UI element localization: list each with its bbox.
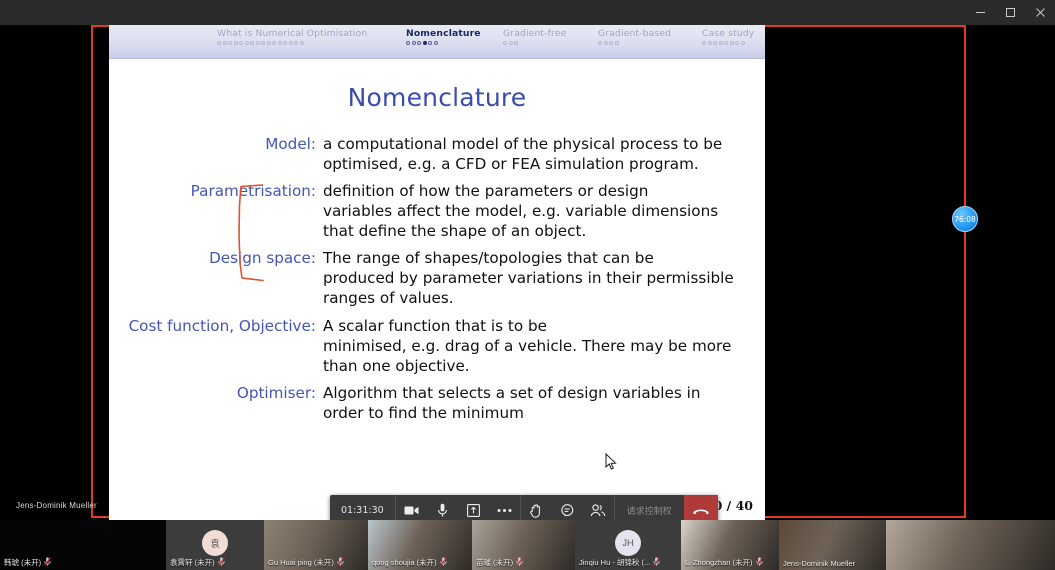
participant-tile[interactable]: Jens-Dominik Mueller — [779, 520, 886, 570]
definition-entry: Cost function, Objective:A scalar functi… — [123, 316, 745, 376]
minimize-button[interactable] — [965, 0, 995, 25]
presenter-name-label: Jens-Dominik Mueller — [16, 501, 97, 510]
nav-section-dots — [217, 41, 367, 45]
nav-dot[interactable] — [294, 41, 298, 45]
nav-dot[interactable] — [713, 41, 717, 45]
definition-text: A scalar function that is to beminimised… — [323, 316, 745, 376]
definition-text: a computational model of the physical pr… — [323, 134, 745, 174]
nav-dot[interactable] — [223, 41, 227, 45]
definition-line: A scalar function that is to be — [323, 316, 745, 336]
presentation-slide: What is Numerical OptimisationNomenclatu… — [109, 25, 765, 516]
nav-dot[interactable] — [234, 41, 238, 45]
nav-dot[interactable] — [217, 41, 221, 45]
nav-dot[interactable] — [245, 41, 249, 45]
participant-tile[interactable]: 韩琥 (未开) — [0, 520, 166, 570]
nav-dot[interactable] — [598, 41, 602, 45]
nav-dot[interactable] — [406, 41, 410, 45]
maximize-button[interactable] — [995, 0, 1025, 25]
ellipsis-icon — [497, 508, 512, 513]
nav-dot[interactable] — [741, 41, 745, 45]
nav-dot[interactable] — [708, 41, 712, 45]
definition-line: order to find the minimum — [323, 403, 745, 423]
nav-dot[interactable] — [604, 41, 608, 45]
nav-section-1[interactable]: Nomenclature — [406, 28, 481, 45]
definition-line: The range of shapes/topologies that can … — [323, 248, 745, 268]
mic-muted-icon — [337, 557, 344, 568]
nav-dot[interactable] — [412, 41, 416, 45]
definition-text: The range of shapes/topologies that can … — [323, 248, 745, 308]
nav-section-dots — [406, 41, 481, 45]
nav-dot[interactable] — [428, 41, 432, 45]
participant-name: 袁霄轩 (未开) — [170, 557, 215, 568]
share-screen-icon — [467, 504, 480, 517]
participant-name-row: qong shoujia (未开) — [372, 557, 468, 568]
nav-dot[interactable] — [503, 41, 507, 45]
nav-dot[interactable] — [289, 41, 293, 45]
definition-entry: Parametrisation:definition of how the pa… — [123, 181, 745, 241]
definition-line: than one objective. — [323, 356, 745, 376]
mouse-cursor — [605, 453, 617, 471]
meeting-window: What is Numerical OptimisationNomenclatu… — [0, 0, 1055, 570]
participant-name: Li Zhongzhan (未开) — [685, 557, 753, 568]
camera-icon — [404, 505, 419, 516]
nav-dot[interactable] — [434, 41, 438, 45]
participant-name-row: 韩琥 (未开) — [4, 557, 162, 568]
definition-term: Optimiser: — [123, 383, 323, 423]
definition-line: produced by parameter variations in thei… — [323, 268, 745, 288]
nav-dot[interactable] — [730, 41, 734, 45]
participant-name: Jens-Dominik Mueller — [783, 559, 855, 568]
nav-dot[interactable] — [272, 41, 276, 45]
nav-section-label: What is Numerical Optimisation — [217, 28, 367, 39]
nav-dot[interactable] — [615, 41, 619, 45]
participant-tile[interactable]: JHJinqiu Hu - 胡锦秋 (... — [575, 520, 681, 570]
close-button[interactable] — [1025, 0, 1055, 25]
definition-term: Design space: — [123, 248, 323, 308]
definition-line: Algorithm that selects a set of design v… — [323, 383, 745, 403]
definition-term: Cost function, Objective: — [123, 316, 323, 376]
nav-dot[interactable] — [300, 41, 304, 45]
participant-tile[interactable]: Gu Huai ping (未开) — [264, 520, 368, 570]
nav-dot[interactable] — [278, 41, 282, 45]
nav-dot[interactable] — [702, 41, 706, 45]
mic-muted-icon — [653, 557, 660, 568]
definition-entry: Design space:The range of shapes/topolog… — [123, 248, 745, 308]
nav-dot[interactable] — [423, 41, 427, 45]
avatar: JH — [615, 530, 641, 556]
definition-line: minimised, e.g. drag of a vehicle. There… — [323, 336, 745, 356]
nav-dot[interactable] — [735, 41, 739, 45]
definition-entry: Optimiser:Algorithm that selects a set o… — [123, 383, 745, 423]
window-titlebar — [0, 0, 1055, 25]
participant-name: qong shoujia (未开) — [372, 557, 437, 568]
nav-dot[interactable] — [509, 41, 513, 45]
participant-name-row: Jens-Dominik Mueller — [783, 559, 882, 568]
navigation-sections: What is Numerical OptimisationNomenclatu… — [109, 28, 765, 58]
nav-section-dots — [702, 41, 754, 45]
definition-line: ranges of values. — [323, 288, 745, 308]
phone-hangup-icon — [692, 506, 710, 516]
definition-line: variables affect the model, e.g. variabl… — [323, 201, 745, 221]
nav-section-label: Nomenclature — [406, 28, 481, 39]
participant-name: 苗璀 (未开) — [476, 557, 513, 568]
nav-dot[interactable] — [417, 41, 421, 45]
nav-dot[interactable] — [719, 41, 723, 45]
mic-muted-icon — [44, 557, 51, 568]
nav-dot[interactable] — [250, 41, 254, 45]
definition-text: definition of how the parameters or desi… — [323, 181, 745, 241]
mic-muted-icon — [440, 557, 447, 568]
nav-dot[interactable] — [239, 41, 243, 45]
chat-bubble-icon — [561, 504, 574, 517]
beamer-navigation-bar: What is Numerical OptimisationNomenclatu… — [109, 25, 765, 59]
nav-section-3[interactable]: Gradient-based — [598, 28, 671, 45]
nav-dot[interactable] — [514, 41, 518, 45]
participant-tile[interactable]: qong shoujia (未开) — [368, 520, 472, 570]
definition-line: a computational model of the physical pr… — [323, 134, 745, 154]
nav-section-dots — [503, 41, 566, 45]
definition-list: Model:a computational model of the physi… — [109, 134, 765, 423]
nav-dot[interactable] — [283, 41, 287, 45]
nav-dot[interactable] — [724, 41, 728, 45]
nav-section-dots — [598, 41, 671, 45]
nav-dot[interactable] — [261, 41, 265, 45]
definition-line: definition of how the parameters or desi… — [323, 181, 745, 201]
participant-name-row: 苗璀 (未开) — [476, 557, 571, 568]
participant-name-row: 袁霄轩 (未开) — [170, 557, 260, 568]
nav-section-label: Gradient-based — [598, 28, 671, 39]
participant-filmstrip: 韩琥 (未开)袁袁霄轩 (未开)Gu Huai ping (未开)qong sh… — [0, 520, 1055, 570]
participant-tile[interactable] — [886, 520, 1055, 570]
hand-icon — [530, 504, 542, 518]
nav-dot[interactable] — [267, 41, 271, 45]
avatar: 袁 — [202, 530, 228, 556]
mic-muted-icon — [516, 557, 523, 568]
mic-muted-icon — [218, 557, 225, 568]
definition-term: Parametrisation: — [123, 181, 323, 241]
people-icon — [590, 504, 606, 517]
microphone-icon — [437, 503, 448, 518]
nav-dot[interactable] — [228, 41, 232, 45]
nav-dot[interactable] — [256, 41, 260, 45]
participant-name: 韩琥 (未开) — [4, 557, 41, 568]
nav-section-2[interactable]: Gradient-free — [503, 28, 566, 45]
slide-title: Nomenclature — [109, 83, 765, 112]
definition-line: optimised, e.g. a CFD or FEA simulation … — [323, 154, 745, 174]
participant-tile[interactable]: 袁袁霄轩 (未开) — [166, 520, 264, 570]
participant-name-row: Jinqiu Hu - 胡锦秋 (... — [579, 557, 677, 568]
definition-term: Model: — [123, 134, 323, 174]
definition-text: Algorithm that selects a set of design v… — [323, 383, 745, 423]
definition-entry: Model:a computational model of the physi… — [123, 134, 745, 174]
participant-tile[interactable]: 苗璀 (未开) — [472, 520, 575, 570]
participant-name-row: Li Zhongzhan (未开) — [685, 557, 775, 568]
participant-name-row: Gu Huai ping (未开) — [268, 557, 364, 568]
mic-muted-icon — [756, 557, 763, 568]
shared-screen-stage: What is Numerical OptimisationNomenclatu… — [0, 25, 1055, 520]
nav-dot[interactable] — [609, 41, 613, 45]
participant-video — [886, 520, 1055, 570]
nav-section-4[interactable]: Case study — [702, 28, 754, 45]
nav-section-label: Gradient-free — [503, 28, 566, 39]
participant-name: Gu Huai ping (未开) — [268, 557, 334, 568]
floating-timer-bubble[interactable]: 76:08 — [952, 206, 978, 232]
nav-section-label: Case study — [702, 28, 754, 39]
participant-tile[interactable]: Li Zhongzhan (未开) — [681, 520, 779, 570]
definition-line: that define the shape of an object. — [323, 221, 745, 241]
participant-name: Jinqiu Hu - 胡锦秋 (... — [579, 557, 650, 568]
nav-section-0[interactable]: What is Numerical Optimisation — [217, 28, 367, 45]
